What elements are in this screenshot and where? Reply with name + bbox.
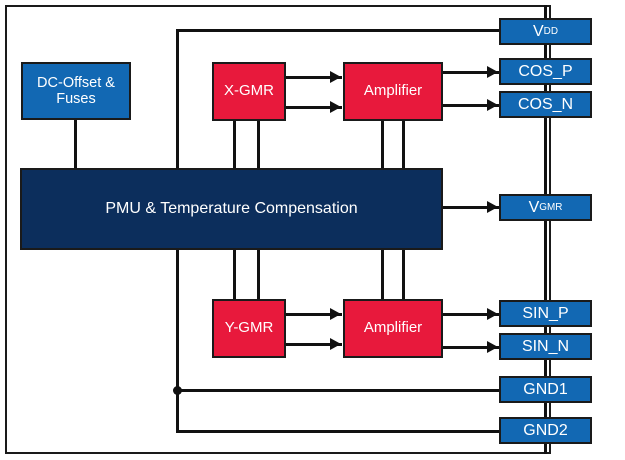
block-amplifier-top[interactable]: Amplifier bbox=[343, 62, 443, 121]
amp-bottom-out-arrow-sinn bbox=[487, 341, 498, 353]
block-dc-offset-fuses[interactable]: DC-Offset & Fuses bbox=[21, 62, 131, 120]
pin-cos-n[interactable]: COS_N bbox=[499, 91, 592, 118]
pin-sin-p-label: SIN_P bbox=[522, 305, 568, 323]
block-y-gmr[interactable]: Y-GMR bbox=[212, 299, 286, 358]
x-gmr-to-pmu-wire-1 bbox=[233, 120, 236, 170]
y-gmr-out-arrow-2 bbox=[330, 338, 341, 350]
vdd-feed-vertical bbox=[176, 29, 179, 170]
amp-top-to-pmu-wire-1 bbox=[381, 120, 384, 170]
dc-offset-to-pmu-wire bbox=[74, 119, 77, 170]
pin-gnd2-label: GND2 bbox=[523, 422, 567, 440]
pin-vdd-label: V bbox=[533, 23, 544, 41]
amp-top-out-arrow-cosn bbox=[487, 99, 498, 111]
pin-vgmr-sub: GMR bbox=[539, 202, 562, 213]
pin-sin-p[interactable]: SIN_P bbox=[499, 300, 592, 327]
block-amplifier-bottom[interactable]: Amplifier bbox=[343, 299, 443, 358]
pin-sin-n-label: SIN_N bbox=[522, 338, 569, 356]
y-gmr-out-arrow-1 bbox=[330, 308, 341, 320]
pin-vdd[interactable]: VDD bbox=[499, 18, 592, 45]
amp-top-out-arrow-cosp bbox=[487, 66, 498, 78]
pin-gnd1-label: GND1 bbox=[523, 381, 567, 399]
x-gmr-out-arrow-1 bbox=[330, 71, 341, 83]
pmu-out-arrow-vgmr bbox=[487, 201, 498, 213]
pmu-to-y-gmr-wire-2 bbox=[257, 249, 260, 300]
vdd-feed-horizontal bbox=[176, 29, 501, 32]
pmu-to-y-gmr-wire-1 bbox=[233, 249, 236, 300]
pin-sin-n[interactable]: SIN_N bbox=[499, 333, 592, 360]
pin-vdd-sub: DD bbox=[544, 26, 558, 37]
pmu-to-amp-bottom-wire-1 bbox=[381, 249, 384, 300]
gnd-trunk-vertical bbox=[176, 249, 179, 432]
block-diagram: DC-Offset & Fuses X-GMR Amplifier PMU & … bbox=[0, 0, 625, 460]
x-gmr-out-arrow-2 bbox=[330, 101, 341, 113]
amp-top-to-pmu-wire-2 bbox=[402, 120, 405, 170]
gnd-junction-dot bbox=[173, 386, 182, 395]
block-x-gmr[interactable]: X-GMR bbox=[212, 62, 286, 121]
pin-gnd2[interactable]: GND2 bbox=[499, 417, 592, 444]
block-pmu-temperature-compensation[interactable]: PMU & Temperature Compensation bbox=[20, 168, 443, 250]
pin-vgmr-label: V bbox=[529, 199, 540, 217]
pin-cos-p[interactable]: COS_P bbox=[499, 58, 592, 85]
gnd1-branch bbox=[176, 389, 501, 392]
gnd2-branch bbox=[176, 430, 501, 433]
pin-cos-n-label: COS_N bbox=[518, 96, 573, 114]
amp-bottom-out-arrow-sinp bbox=[487, 308, 498, 320]
pin-gnd1[interactable]: GND1 bbox=[499, 376, 592, 403]
x-gmr-to-pmu-wire-2 bbox=[257, 120, 260, 170]
pin-cos-p-label: COS_P bbox=[518, 63, 572, 81]
pin-vgmr[interactable]: VGMR bbox=[499, 194, 592, 221]
pmu-to-amp-bottom-wire-2 bbox=[402, 249, 405, 300]
